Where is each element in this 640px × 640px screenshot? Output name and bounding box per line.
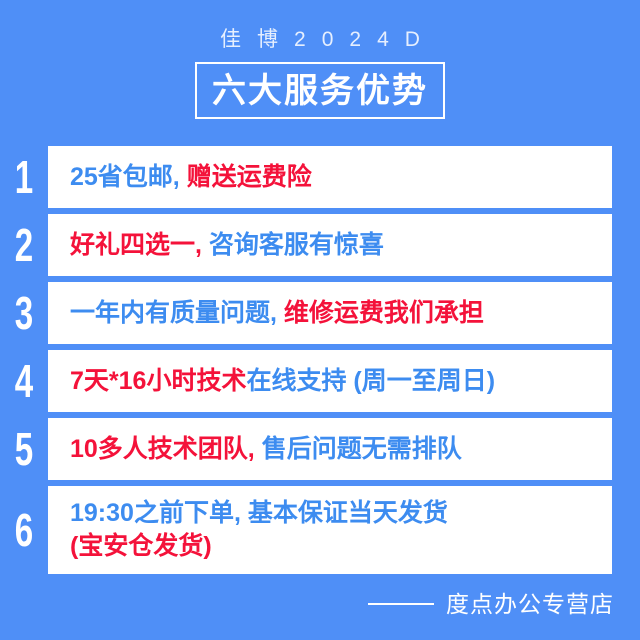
- service-text-line: 好礼四选一, 咨询客服有惊喜: [70, 229, 612, 262]
- brand-model-label: 佳博2024D: [0, 26, 640, 54]
- service-number: 1: [7, 154, 42, 200]
- service-number-cell: 3: [0, 282, 48, 344]
- service-number-cell: 4: [0, 350, 48, 412]
- service-card: 25省包邮, 赠送运费险: [48, 146, 612, 208]
- service-number-cell: 5: [0, 418, 48, 480]
- service-card: 7天*16小时技术在线支持 (周一至周日): [48, 350, 612, 412]
- service-number: 4: [7, 358, 42, 404]
- service-text-segment-blue: 在线支持 (周一至周日): [246, 367, 495, 395]
- service-card: 好礼四选一, 咨询客服有惊喜: [48, 214, 612, 276]
- footer-dash-icon: [368, 603, 434, 605]
- service-row: 47天*16小时技术在线支持 (周一至周日): [0, 350, 640, 412]
- service-text-segment-blue: 19:30之前下单, 基本保证当天发货: [70, 499, 448, 527]
- page-title: 六大服务优势: [212, 71, 428, 111]
- service-number: 6: [7, 507, 42, 553]
- service-row: 125省包邮, 赠送运费险: [0, 146, 640, 208]
- service-number-cell: 1: [0, 146, 48, 208]
- service-card: 19:30之前下单, 基本保证当天发货(宝安仓发货): [48, 486, 612, 574]
- service-number: 5: [7, 426, 42, 472]
- service-text-segment-red: 好礼四选一,: [70, 231, 209, 259]
- service-text-segment-red: 赠送运费险: [187, 163, 312, 191]
- service-text-segment-red: (宝安仓发货): [70, 532, 212, 560]
- service-text-segment-red: 维修运费我们承担: [284, 299, 484, 327]
- service-row: 510多人技术团队, 售后问题无需排队: [0, 418, 640, 480]
- service-text-segment-blue: 咨询客服有惊喜: [209, 231, 384, 259]
- service-number-cell: 2: [0, 214, 48, 276]
- service-row: 2好礼四选一, 咨询客服有惊喜: [0, 214, 640, 276]
- service-text-line: 7天*16小时技术在线支持 (周一至周日): [70, 365, 612, 398]
- service-text-line: (宝安仓发货): [70, 530, 612, 563]
- service-number: 2: [7, 222, 42, 268]
- title-frame: 六大服务优势: [195, 62, 445, 119]
- footer: 度点办公专营店: [0, 590, 640, 618]
- service-text-segment-blue: 一年内有质量问题,: [70, 299, 284, 327]
- service-text-segment-blue: 售后问题无需排队: [262, 435, 462, 463]
- service-number: 3: [7, 290, 42, 336]
- service-card: 10多人技术团队, 售后问题无需排队: [48, 418, 612, 480]
- service-row: 619:30之前下单, 基本保证当天发货(宝安仓发货): [0, 486, 640, 574]
- service-text-segment-red: 7天*16小时技术: [70, 367, 246, 395]
- service-text-line: 一年内有质量问题, 维修运费我们承担: [70, 297, 612, 330]
- promo-poster: 佳博2024D 六大服务优势 125省包邮, 赠送运费险2好礼四选一, 咨询客服…: [0, 0, 640, 640]
- service-number-cell: 6: [0, 486, 48, 574]
- service-list: 125省包邮, 赠送运费险2好礼四选一, 咨询客服有惊喜3一年内有质量问题, 维…: [0, 146, 640, 580]
- service-card: 一年内有质量问题, 维修运费我们承担: [48, 282, 612, 344]
- service-row: 3一年内有质量问题, 维修运费我们承担: [0, 282, 640, 344]
- service-text-line: 10多人技术团队, 售后问题无需排队: [70, 433, 612, 466]
- service-text-segment-red: 10多人技术团队,: [70, 435, 262, 463]
- service-text-segment-blue: 25省包邮,: [70, 163, 187, 191]
- shop-name-label: 度点办公专营店: [446, 590, 614, 618]
- service-text-line: 25省包邮, 赠送运费险: [70, 161, 612, 194]
- service-text-line: 19:30之前下单, 基本保证当天发货: [70, 497, 612, 530]
